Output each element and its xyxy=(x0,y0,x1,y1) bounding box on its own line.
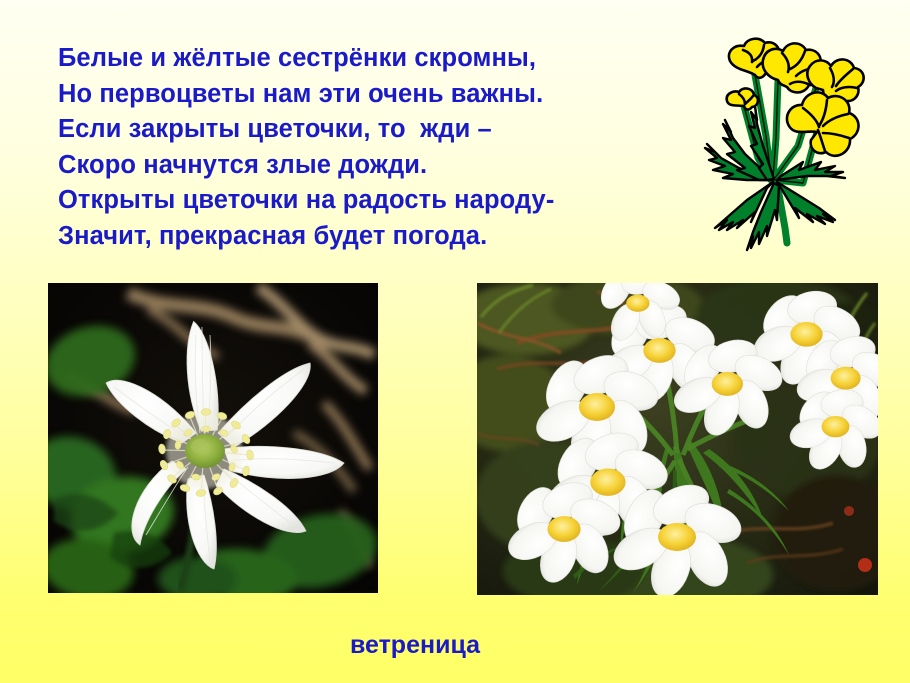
photo-anemone-cluster xyxy=(477,283,878,595)
caption-label: ветреница xyxy=(0,631,830,660)
buttercup-clipart-icon xyxy=(703,28,888,253)
poem-line-4: Скоро начнутся злые дожди. xyxy=(58,148,678,184)
poem-line-2: Но первоцветы нам эти очень важны. xyxy=(58,77,678,113)
poem-text-block: Белые и жёлтые сестрёнки скромны, Но пер… xyxy=(58,41,678,255)
poem-line-5: Открыты цветочки на радость народу- xyxy=(58,183,678,219)
poem-line-6: Значит, прекрасная будет погода. xyxy=(58,219,678,255)
poem-line-1: Белые и жёлтые сестрёнки скромны, xyxy=(58,41,678,77)
slide: Белые и жёлтые сестрёнки скромны, Но пер… xyxy=(0,0,910,683)
poem-line-3: Если закрыты цветочки, то жди – xyxy=(58,112,678,148)
photo-wood-anemone-single xyxy=(48,283,378,593)
